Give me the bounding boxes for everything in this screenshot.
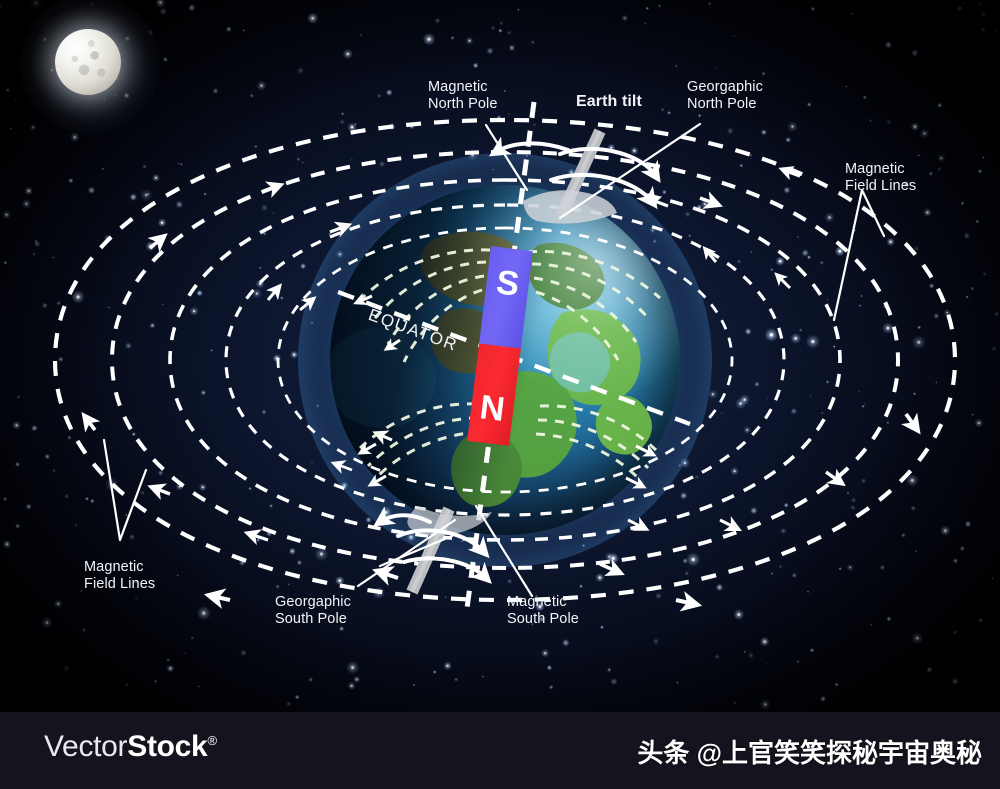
label-geographic-south-pole: Georgaphic South Pole bbox=[275, 594, 351, 628]
label-magnetic-south-pole: Magnetic South Pole bbox=[507, 594, 579, 628]
logo-text-part1: Vector bbox=[44, 730, 127, 763]
label-earth-tilt: Earth tilt bbox=[576, 93, 642, 110]
watermark-text: 头条 @上官笑笑探秘宇宙奥秘 bbox=[637, 733, 982, 770]
leader-field-lines-left bbox=[104, 440, 146, 540]
magnet-north-letter: N bbox=[469, 387, 515, 431]
logo-text-part2: Stock bbox=[127, 730, 207, 763]
logo-registered-mark: ® bbox=[207, 733, 216, 748]
label-magnetic-field-lines-left: Magnetic Field Lines bbox=[84, 559, 155, 593]
diagram-canvas: S N Magnetic North Pole Earth tilt Georg… bbox=[0, 0, 1000, 789]
vectorstock-logo: VectorStock® bbox=[44, 730, 217, 764]
label-magnetic-north-pole: Magnetic North Pole bbox=[428, 79, 498, 113]
label-geographic-north-pole: Georgaphic North Pole bbox=[687, 79, 763, 113]
magnet-south-letter: S bbox=[484, 262, 530, 306]
label-magnetic-field-lines-right: Magnetic Field Lines bbox=[845, 161, 916, 195]
leader-geographic-south-1 bbox=[358, 520, 455, 586]
leader-field-lines-right bbox=[834, 190, 884, 320]
north-pole-cap bbox=[523, 190, 617, 223]
